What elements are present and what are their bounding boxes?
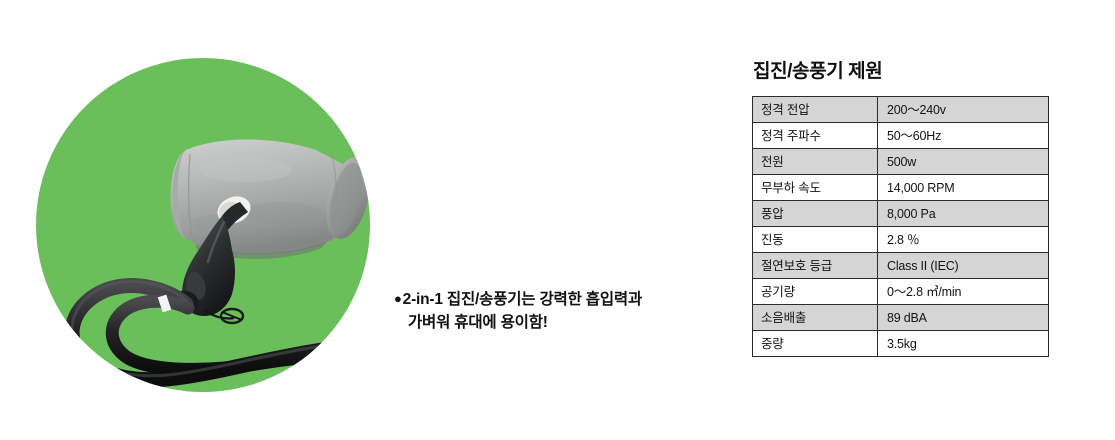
spec-label: 풍압 [753, 201, 878, 227]
spec-row: 전원500w [753, 149, 1049, 175]
spec-row: 정격 전압200〜240v [753, 97, 1049, 123]
spec-label: 절연보호 등급 [753, 253, 878, 279]
spec-row: 공기량0〜2.8 ㎥/min [753, 279, 1049, 305]
spec-value: 500w [878, 149, 1049, 175]
spec-label: 정격 전압 [753, 97, 878, 123]
dust-bag [170, 140, 377, 260]
spec-row: 중량3.5kg [753, 331, 1049, 357]
spec-row: 풍압8,000 Pa [753, 201, 1049, 227]
spec-label: 소음배출 [753, 305, 878, 331]
spec-row: 정격 주파수50〜60Hz [753, 123, 1049, 149]
spec-row: 절연보호 등급Class II (IEC) [753, 253, 1049, 279]
bullet-icon: ● [394, 291, 402, 306]
spec-value: 50〜60Hz [878, 123, 1049, 149]
spec-table-body: 정격 전압200〜240v정격 주파수50〜60Hz전원500w무부하 속도14… [753, 97, 1049, 357]
specification-panel: 집진/송풍기 제원 정격 전압200〜240v정격 주파수50〜60Hz전원50… [752, 60, 1052, 357]
spec-value: 0〜2.8 ㎥/min [878, 279, 1049, 305]
spec-label: 공기량 [753, 279, 878, 305]
spec-value: 2.8 ％ [878, 227, 1049, 253]
spec-value: Class II (IEC) [878, 253, 1049, 279]
spec-label: 진동 [753, 227, 878, 253]
spec-value: 8,000 Pa [878, 201, 1049, 227]
spec-title: 집진/송풍기 제원 [753, 60, 1052, 84]
spec-label: 무부하 속도 [753, 175, 878, 201]
spec-table: 정격 전압200〜240v정격 주파수50〜60Hz전원500w무부하 속도14… [752, 96, 1049, 357]
product-caption: ●2-in-1 집진/송풍기는 강력한 흡입력과 가벼워 휴대에 용이함! [394, 287, 694, 334]
spec-row: 진동2.8 ％ [753, 227, 1049, 253]
spec-value: 14,000 RPM [878, 175, 1049, 201]
caption-line-1: 2-in-1 집진/송풍기는 강력한 흡입력과 [403, 291, 642, 308]
spec-label: 중량 [753, 331, 878, 357]
product-photo [36, 58, 396, 392]
caption-line-2: 가벼워 휴대에 용이함! [394, 311, 694, 334]
spec-row: 소음배출89 dBA [753, 305, 1049, 331]
spec-value: 3.5kg [878, 331, 1049, 357]
spec-label: 정격 주파수 [753, 123, 878, 149]
spec-row: 무부하 속도14,000 RPM [753, 175, 1049, 201]
product-image-panel: ●2-in-1 집진/송풍기는 강력한 흡입력과 가벼워 휴대에 용이함! [0, 0, 700, 440]
spec-value: 200〜240v [878, 97, 1049, 123]
spec-label: 전원 [753, 149, 878, 175]
spec-value: 89 dBA [878, 305, 1049, 331]
